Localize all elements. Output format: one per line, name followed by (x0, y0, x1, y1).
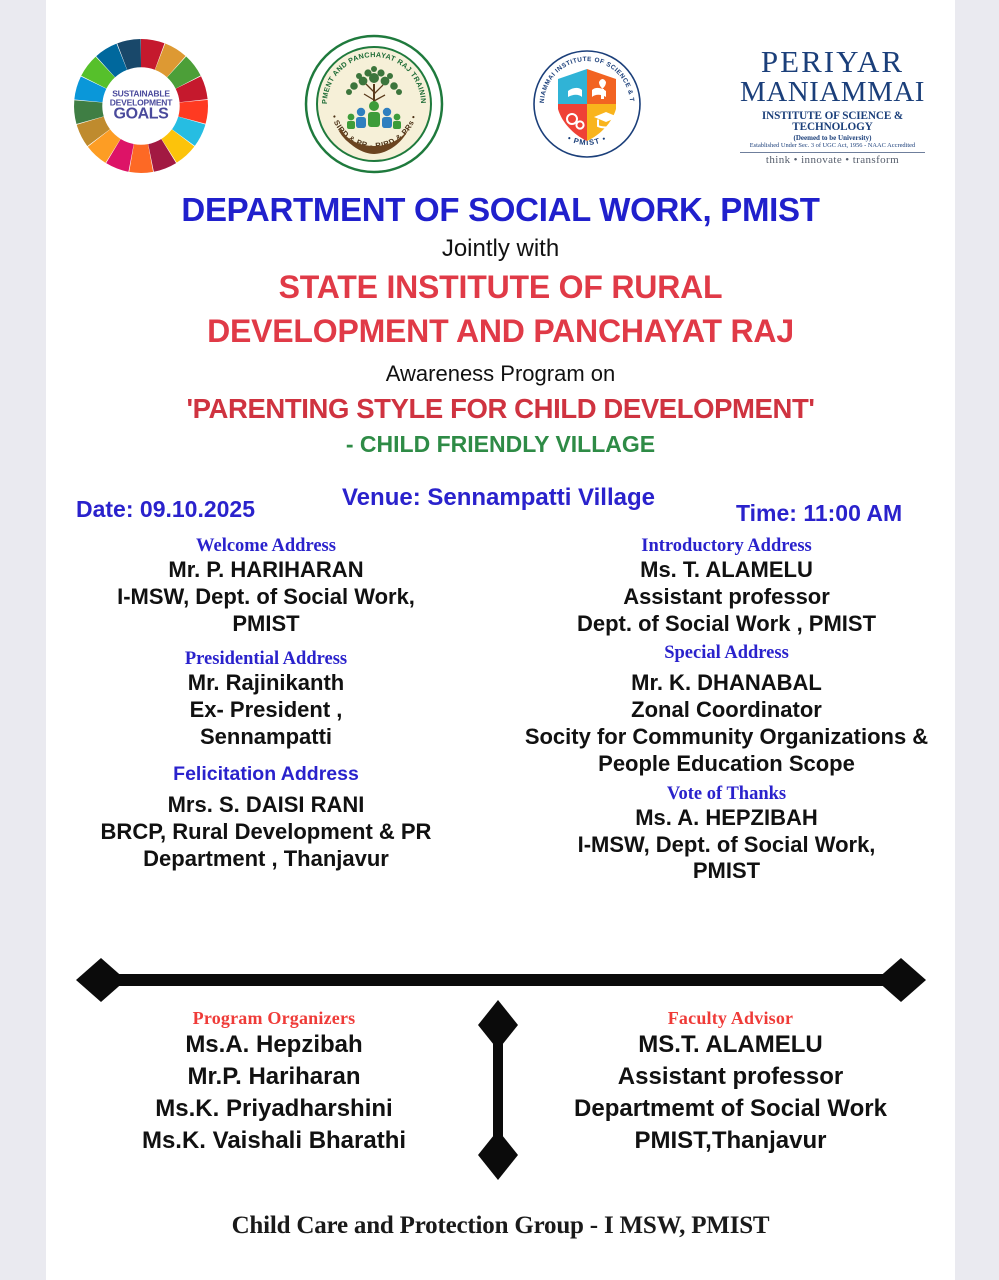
program-person-line: Socity for Community Organizations & (498, 724, 955, 751)
program-person-line: Sennampatti (46, 724, 486, 751)
program-person-line: Mr. K. DHANABAL (498, 670, 955, 697)
faculty-advisor-line: PMIST,Thanjavur (506, 1125, 955, 1157)
program-subtitle: - CHILD FRIENDLY VILLAGE (46, 431, 955, 458)
sdg-line-3: GOALS (105, 107, 177, 123)
periyar-rule (740, 152, 925, 153)
program-person-line: Mr. Rajinikanth (46, 670, 486, 697)
program-person-line: People Education Scope (498, 751, 955, 778)
jointly-with-label: Jointly with (46, 236, 955, 262)
periyar-tagline: think • innovate • transform (730, 155, 935, 166)
program-person-line: BRCP, Rural Development & PR (46, 819, 486, 846)
event-details-row: Date: 09.10.2025 Venue: Sennampatti Vill… (46, 482, 955, 528)
right-margin-strip (955, 0, 999, 1280)
logo-row: SUSTAINABLE DEVELOPMENT GOALS RURAL DEVE… (46, 26, 955, 186)
program-item: Vote of Thanks Ms. A. HEPZIBAH I-MSW, De… (498, 784, 955, 885)
pmist-emblem: PERIYAR MANIAMMAI INSTITUTE OF SCIENCE &… (532, 49, 642, 164)
program-person-line: Ms. T. ALAMELU (498, 557, 955, 584)
footer-credit: Child Care and Protection Group - I MSW,… (46, 1212, 955, 1240)
sird-emblem-icon: RURAL DEVELOPMENT AND PANCHAYAT RAJ TRAI… (304, 34, 444, 174)
periyar-line-1: PERIYAR (730, 46, 935, 77)
spacer (46, 637, 486, 649)
organizer-name: Ms.A. Hepzibah (54, 1029, 494, 1061)
periyar-line-3: INSTITUTE OF SCIENCE & TECHNOLOGY (730, 111, 935, 133)
event-date: Date: 09.10.2025 (76, 496, 255, 523)
program-person-line: Dept. of Social Work , PMIST (498, 611, 955, 638)
organizer-name: Ms.K. Priyadharshini (54, 1093, 494, 1125)
program-person-line: I-MSW, Dept. of Social Work, (498, 832, 955, 859)
periyar-line-5: Established Under Sec. 3 of UGC Act, 195… (730, 143, 935, 149)
program-person-line: Assistant professor (498, 584, 955, 611)
event-time: Time: 11:00 AM (736, 500, 902, 527)
program-person-line: PMIST (46, 611, 486, 638)
organizer-name: Mr.P. Hariharan (54, 1061, 494, 1093)
organizers-heading: Program Organizers (54, 1008, 494, 1029)
program-person-line: Ms. A. HEPZIBAH (498, 805, 955, 832)
program-person-line: PMIST (498, 858, 955, 885)
program-item: Welcome Address Mr. P. HARIHARAN I-MSW, … (46, 536, 486, 637)
program-person-line: Mrs. S. DAISI RANI (46, 792, 486, 819)
periyar-line-4: (Deemed to be University) (730, 135, 935, 142)
partner-title-line-1: STATE INSTITUTE OF RURAL (46, 267, 955, 307)
spacer (46, 751, 486, 763)
program-role-label: Introductory Address (498, 536, 955, 557)
program-item: Felicitation Address Mrs. S. DAISI RANI … (46, 763, 486, 872)
program-role-label: Vote of Thanks (498, 784, 955, 805)
headline-block: DEPARTMENT OF SOCIAL WORK, PMIST Jointly… (46, 192, 955, 458)
sustainable-development-goals-logo: SUSTAINABLE DEVELOPMENT GOALS (66, 31, 216, 181)
program-role-label: Welcome Address (46, 536, 486, 557)
faculty-advisor-heading: Faculty Advisor (506, 1008, 955, 1029)
program-person-line: I-MSW, Dept. of Social Work, (46, 584, 486, 611)
program-role-label: Felicitation Address (46, 763, 486, 786)
program-topic: 'PARENTING STYLE FOR CHILD DEVELOPMENT' (46, 393, 955, 425)
program-person-line: Mr. P. HARIHARAN (46, 557, 486, 584)
program-person-line: Ex- President , (46, 697, 486, 724)
organizer-name: Ms.K. Vaishali Bharathi (54, 1125, 494, 1157)
program-item: Introductory Address Ms. T. ALAMELU Assi… (498, 536, 955, 637)
program-item: Presidential Address Mr. Rajinikanth Ex-… (46, 649, 486, 750)
pmist-emblem-icon: PERIYAR MANIAMMAI INSTITUTE OF SCIENCE &… (532, 49, 642, 159)
faculty-advisor-column: Faculty Advisor MS.T. ALAMELU Assistant … (506, 1008, 955, 1157)
faculty-advisor-line: MS.T. ALAMELU (506, 1029, 955, 1061)
periyar-line-2: MANIAMMAI (730, 78, 935, 107)
program-column-right: Introductory Address Ms. T. ALAMELU Assi… (498, 536, 955, 885)
program-person-line: Department , Thanjavur (46, 846, 486, 873)
poster-page: SUSTAINABLE DEVELOPMENT GOALS RURAL DEVE… (0, 0, 999, 1280)
sird-pr-tamil-nadu-emblem: RURAL DEVELOPMENT AND PANCHAYAT RAJ TRAI… (304, 34, 444, 179)
poster-sheet: SUSTAINABLE DEVELOPMENT GOALS RURAL DEVE… (46, 0, 955, 1280)
program-role-label: Presidential Address (46, 649, 486, 670)
organizers-column: Program Organizers Ms.A. Hepzibah Mr.P. … (54, 1008, 494, 1157)
event-venue: Venue: Sennampatti Village (342, 484, 655, 512)
department-title: DEPARTMENT OF SOCIAL WORK, PMIST (46, 192, 955, 228)
program-role-label: Special Address (498, 643, 955, 664)
sdg-center-label: SUSTAINABLE DEVELOPMENT GOALS (105, 90, 177, 123)
partner-title-line-2: DEVELOPMENT AND PANCHAYAT RAJ (46, 311, 955, 351)
periyar-maniammai-wordmark: PERIYAR MANIAMMAI INSTITUTE OF SCIENCE &… (730, 46, 935, 167)
program-column-left: Welcome Address Mr. P. HARIHARAN I-MSW, … (46, 536, 486, 872)
faculty-advisor-line: Departmemt of Social Work (506, 1093, 955, 1125)
program-person-line: Zonal Coordinator (498, 697, 955, 724)
program-label: Awareness Program on (46, 361, 955, 387)
program-item: Special Address Mr. K. DHANABAL Zonal Co… (498, 643, 955, 777)
left-margin-strip (0, 0, 46, 1280)
faculty-advisor-line: Assistant professor (506, 1061, 955, 1093)
